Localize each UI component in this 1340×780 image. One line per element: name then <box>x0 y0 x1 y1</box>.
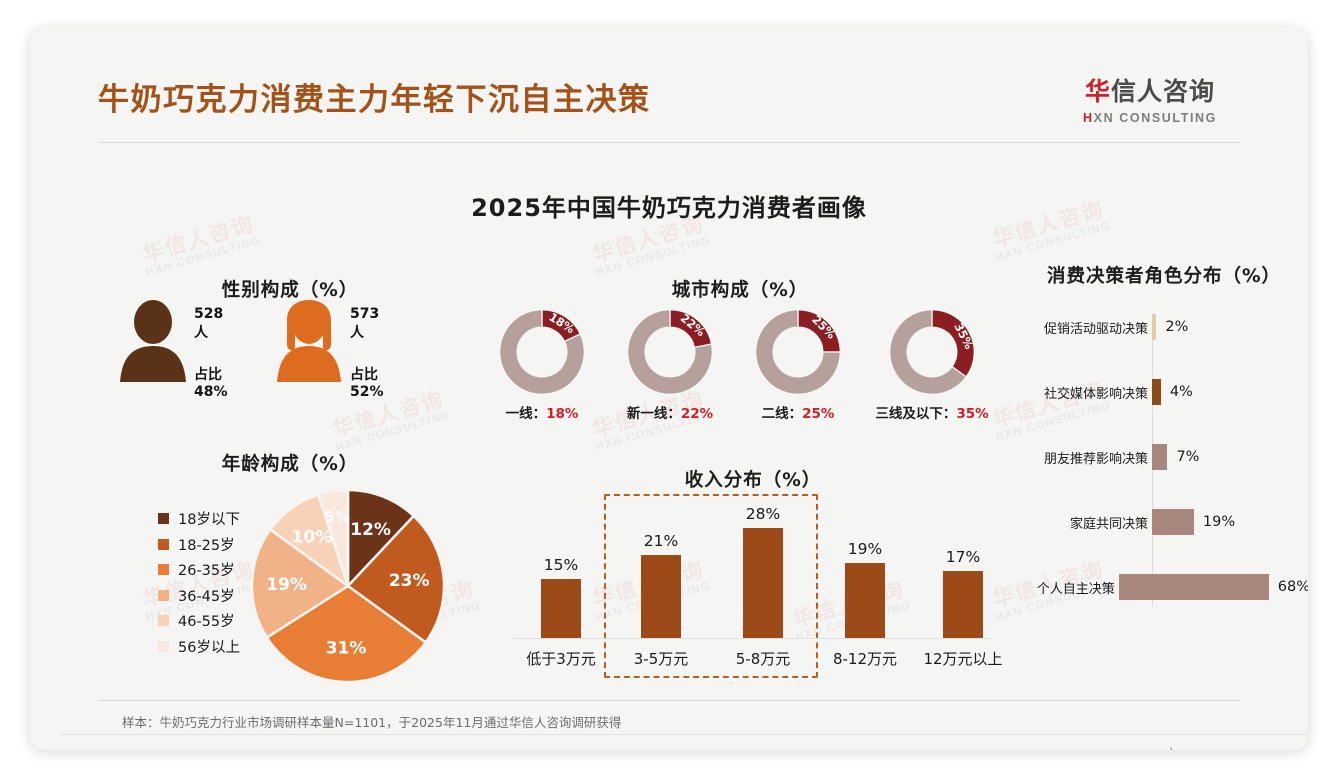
pie-slice-label: 12% <box>350 520 391 540</box>
website-link[interactable]: www.hxrcon.com <box>1137 746 1240 750</box>
decision-bar-value: 68% <box>1278 579 1308 595</box>
city-donut: 25%二线：25% <box>752 306 844 398</box>
infographic-slide: 华信人咨询HXN CONSULTING华信人咨询HXN CONSULTING华信… <box>0 0 1340 780</box>
gender-female-count: 573人 <box>350 306 384 342</box>
decision-bar-value: 4% <box>1170 384 1193 400</box>
age-legend-item: 46-55岁 <box>158 608 240 634</box>
pie-slice-label: 19% <box>266 575 307 595</box>
income-bar <box>541 579 581 638</box>
donut-caption-value: 35% <box>956 406 988 422</box>
header-divider <box>98 142 1240 143</box>
income-bar-column: 19% <box>822 540 908 638</box>
decision-bar <box>1152 509 1194 535</box>
decision-section-title: 消费决策者角色分布（%） <box>1018 262 1308 288</box>
slide-card: 华信人咨询HXN CONSULTING华信人咨询HXN CONSULTING华信… <box>30 28 1308 750</box>
legend-label: 18岁以下 <box>178 508 240 529</box>
logo-en-accent: H <box>1083 111 1094 125</box>
income-bar-value: 19% <box>822 540 908 558</box>
city-donut: 18%一线：18% <box>496 306 588 398</box>
donut-svg <box>624 306 716 398</box>
legend-label: 36-45岁 <box>178 585 235 606</box>
legend-swatch <box>158 539 169 550</box>
income-bar-column: 21% <box>618 532 704 638</box>
pie-slice-label: 5% <box>324 508 349 526</box>
income-category-label: 低于3万元 <box>513 648 609 669</box>
income-category-label: 12万元以上 <box>915 648 1011 669</box>
legend-swatch <box>158 641 169 652</box>
decision-bar-value: 7% <box>1176 449 1199 465</box>
decision-bar <box>1152 379 1161 405</box>
donut-caption: 三线及以下：35% <box>875 402 988 422</box>
income-bar-column: 15% <box>518 556 604 638</box>
city-section-title: 城市构成（%） <box>490 276 990 302</box>
gender-composition-chart: 528人 占比48% 573人 占比52% <box>120 300 460 400</box>
gender-female-share: 占比52% <box>350 364 384 400</box>
donut-caption: 新一线：22% <box>627 402 713 422</box>
income-bar-column: 17% <box>920 548 1006 638</box>
copyright-text: ©2026.1 HXR华信人咨询 <box>98 746 247 750</box>
decision-bar <box>1152 444 1167 470</box>
income-bar-column: 28% <box>720 505 806 638</box>
gender-male-stats: 528人 占比48% <box>194 306 228 400</box>
age-legend-item: 36-45岁 <box>158 583 240 609</box>
footer-divider <box>98 700 1240 701</box>
income-bar-chart: 15%低于3万元21%3-5万元28%5-8万元19%8-12万元17%12万元… <box>508 500 998 690</box>
decision-bar-value: 2% <box>1165 319 1188 335</box>
age-legend-item: 56岁以上 <box>158 634 240 660</box>
decision-row: 个人自主决策68% <box>1030 574 1308 600</box>
logo-rest-chars: 信人咨询 <box>1111 77 1215 106</box>
donut-caption-value: 18% <box>546 406 578 422</box>
footer-divider-2 <box>60 734 1308 735</box>
age-legend-item: 18-25岁 <box>158 532 240 558</box>
decision-bar-value: 19% <box>1203 514 1235 530</box>
donut-svg <box>496 306 588 398</box>
donut-caption-value: 25% <box>802 406 834 422</box>
income-bar-value: 21% <box>618 532 704 550</box>
gender-male-count: 528人 <box>194 306 228 342</box>
decision-bar-chart: 促销活动驱动决策2%社交媒体影响决策4%朋友推荐影响决策7%家庭共同决策19%个… <box>1030 310 1308 620</box>
pie-slice-label: 10% <box>292 527 333 547</box>
donut-caption-name: 新一线： <box>627 406 681 422</box>
age-legend-item: 26-35岁 <box>158 557 240 583</box>
gender-female-stats: 573人 占比52% <box>350 306 384 400</box>
donut-caption: 一线：18% <box>506 402 579 422</box>
legend-swatch <box>158 564 169 575</box>
legend-label: 26-35岁 <box>178 559 235 580</box>
age-legend-item: 18岁以下 <box>158 506 240 532</box>
income-bar-value: 17% <box>920 548 1006 566</box>
income-category-label: 3-5万元 <box>613 648 709 669</box>
decision-bar <box>1119 574 1269 600</box>
decision-row: 朋友推荐影响决策7% <box>1030 444 1308 470</box>
logo-english-text: HXN CONSULTING <box>1060 111 1240 125</box>
logo-chinese-text: 华信人咨询 <box>1060 72 1240 108</box>
decision-category-label: 社交媒体影响决策 <box>1030 383 1152 402</box>
decision-row: 促销活动驱动决策2% <box>1030 314 1308 340</box>
income-bar <box>641 555 681 638</box>
income-bar <box>845 563 885 638</box>
legend-swatch <box>158 590 169 601</box>
page-title: 牛奶巧克力消费主力年轻下沉自主决策 <box>98 74 651 119</box>
decision-category-label: 家庭共同决策 <box>1030 513 1152 532</box>
female-avatar-icon <box>276 300 342 382</box>
decision-category-label: 朋友推荐影响决策 <box>1030 448 1152 467</box>
legend-label: 18-25岁 <box>178 534 235 555</box>
donut-svg <box>752 306 844 398</box>
decision-category-label: 促销活动驱动决策 <box>1030 318 1152 337</box>
sample-note: 样本：牛奶巧克力行业市场调研样本量N=1101，于2025年11月通过华信人咨询… <box>122 712 621 731</box>
age-pie-legend: 18岁以下18-25岁26-35岁36-45岁46-55岁56岁以上 <box>158 506 240 659</box>
income-category-label: 5-8万元 <box>715 648 811 669</box>
age-section-title: 年龄构成（%） <box>120 450 460 476</box>
company-logo: 华信人咨询 HXN CONSULTING <box>1060 72 1240 125</box>
city-donut: 22%新一线：22% <box>624 306 716 398</box>
main-chart-title: 2025年中国牛奶巧克力消费者画像 <box>30 188 1308 223</box>
pie-slice-label: 23% <box>389 571 430 591</box>
pie-slice-label: 31% <box>326 638 367 658</box>
income-bar <box>943 571 983 638</box>
gender-male-share: 占比48% <box>194 364 228 400</box>
legend-label: 46-55岁 <box>178 610 235 631</box>
legend-label: 56岁以上 <box>178 636 240 657</box>
legend-swatch <box>158 513 169 524</box>
donut-caption-name: 三线及以下： <box>875 406 956 422</box>
logo-en-rest: XN CONSULTING <box>1094 111 1217 125</box>
logo-accent-char: 华 <box>1085 77 1111 106</box>
donut-svg <box>886 306 978 398</box>
decision-bar <box>1152 314 1156 340</box>
income-bar-value: 28% <box>720 505 806 523</box>
male-avatar-icon <box>120 300 186 382</box>
income-bar-value: 15% <box>518 556 604 574</box>
donut-caption: 二线：25% <box>762 402 835 422</box>
donut-caption-name: 二线： <box>762 406 803 422</box>
city-donut: 35%三线及以下：35% <box>886 306 978 398</box>
income-section-title: 收入分布（%） <box>508 466 998 492</box>
decision-category-label: 个人自主决策 <box>1030 578 1119 597</box>
donut-caption-name: 一线： <box>506 406 547 422</box>
income-category-label: 8-12万元 <box>817 648 913 669</box>
decision-row: 社交媒体影响决策4% <box>1030 379 1308 405</box>
income-bar <box>743 528 783 638</box>
legend-swatch <box>158 615 169 626</box>
gender-section-title: 性别构成（%） <box>120 276 460 302</box>
income-baseline <box>514 638 992 639</box>
donut-caption-value: 22% <box>681 406 713 422</box>
age-pie-chart: 12%23%31%19%10%5% <box>248 486 448 686</box>
decision-row: 家庭共同决策19% <box>1030 509 1308 535</box>
